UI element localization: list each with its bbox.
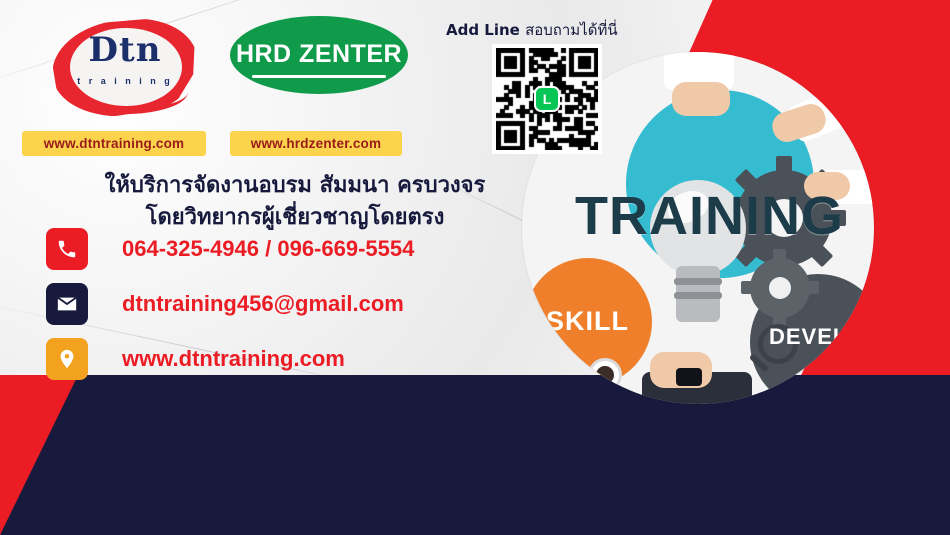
dtn-letter-t: t: [119, 30, 136, 70]
training-headline-word: TRAINING: [575, 185, 844, 247]
business-card-image: SKILL DEVELOP TRAINING Dtn t r a i n i n…: [0, 0, 950, 535]
service-headline-line1: ให้บริการจัดงานอบรม สัมมนา ครบวงจร: [90, 170, 500, 202]
hand-top: [672, 82, 730, 116]
lightbulb-ring: [674, 292, 722, 299]
collage-word-skill: SKILL: [546, 306, 629, 337]
dtn-logo: Dtn t r a i n i n g: [40, 14, 210, 126]
dtn-letter-n: n: [136, 30, 162, 70]
line-app-icon: L: [534, 86, 560, 112]
lightbulb-ring: [674, 278, 722, 285]
website-pill-hrdzenter[interactable]: www.hrdzenter.com: [230, 131, 402, 156]
dtn-logo-swoosh: [62, 70, 188, 114]
add-line-label-thai: สอบถามได้ที่นี่: [525, 21, 618, 39]
coffee-liquid: [596, 366, 614, 384]
dtn-letter-d: D: [89, 30, 119, 70]
contact-row-phone: 064-325-4946 / 096-669-5554: [46, 228, 414, 270]
phone-icon: [46, 228, 88, 270]
hrd-zenter-logo: HRD ZENTER: [230, 16, 408, 94]
gear-icon-small: [750, 258, 810, 318]
location-pin-icon: [46, 338, 88, 380]
wristwatch: [676, 368, 702, 386]
add-line-label: Add Line สอบถามได้ที่นี่: [446, 18, 618, 42]
contact-phone-text[interactable]: 064-325-4946 / 096-669-5554: [122, 236, 414, 262]
add-line-label-bold: Add Line: [446, 21, 525, 39]
collage-word-develop: DEVELOP: [769, 324, 874, 350]
contact-row-email: dtntraining456@gmail.com: [46, 283, 404, 325]
hrd-logo-text: HRD ZENTER: [230, 40, 408, 69]
hrd-logo-underline: [252, 75, 386, 78]
contact-email-text[interactable]: dtntraining456@gmail.com: [122, 291, 404, 317]
dtn-logo-letters: Dtn: [40, 30, 210, 70]
service-headline: ให้บริการจัดงานอบรม สัมมนา ครบวงจร โดยวิ…: [90, 170, 500, 234]
contact-website-text[interactable]: www.dtntraining.com: [122, 346, 345, 372]
website-pill-dtntraining[interactable]: www.dtntraining.com: [22, 131, 206, 156]
envelope-icon: [46, 283, 88, 325]
contact-row-website: www.dtntraining.com: [46, 338, 345, 380]
